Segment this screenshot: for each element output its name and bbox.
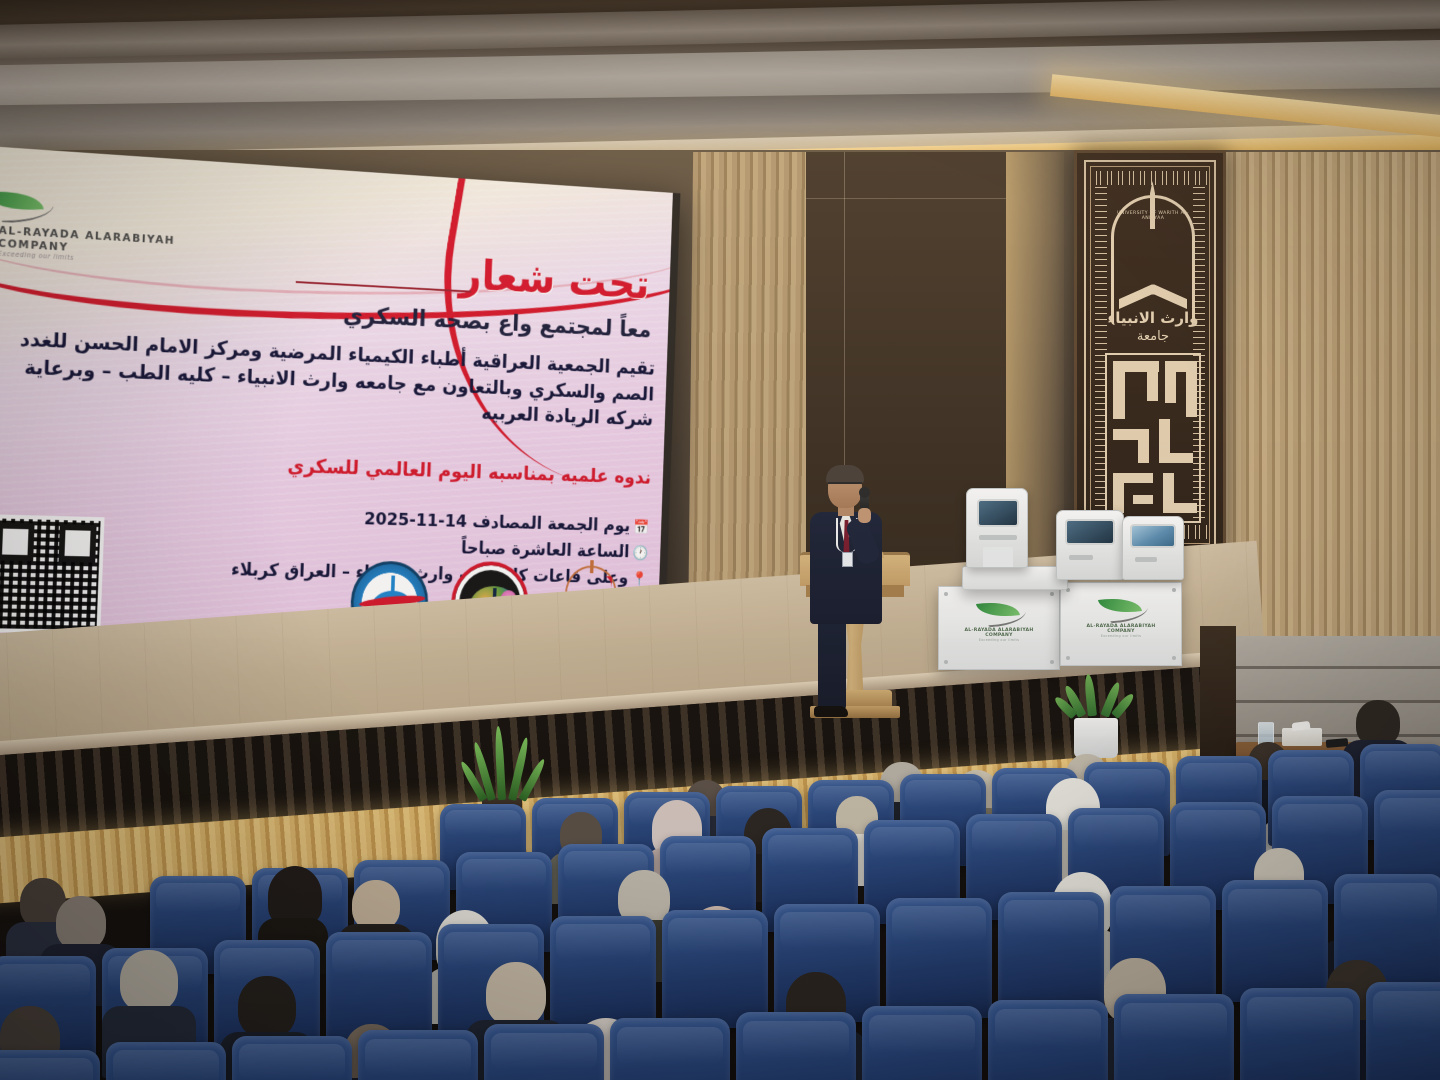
cabinet-brand-tagline: Exceeding our limits bbox=[945, 638, 1053, 642]
seat[interactable] bbox=[1240, 988, 1360, 1080]
analyzer-slot bbox=[979, 535, 1017, 540]
analyzer-blue-touchscreen[interactable] bbox=[1122, 516, 1184, 580]
cabinet-brand-tagline: Exceeding our limits bbox=[1067, 634, 1175, 638]
seat[interactable] bbox=[1222, 880, 1328, 1002]
presenter bbox=[806, 468, 886, 718]
clock-icon: 🕐 bbox=[632, 544, 648, 562]
equipment-cabinet-left: AL-RAYADA ALARABIYAH COMPANY Exceeding o… bbox=[938, 586, 1060, 670]
analyzer-display[interactable] bbox=[977, 499, 1019, 527]
seat[interactable] bbox=[358, 1030, 478, 1080]
seat[interactable] bbox=[862, 1006, 982, 1080]
analyzer-slot bbox=[1135, 557, 1157, 562]
seat[interactable] bbox=[1366, 982, 1440, 1080]
university-word-arabic: جامعة bbox=[1105, 329, 1201, 344]
analyzer-display[interactable] bbox=[1130, 524, 1176, 548]
seat[interactable] bbox=[736, 1012, 856, 1080]
qr-code-icon[interactable] bbox=[0, 514, 105, 633]
seat[interactable] bbox=[484, 1024, 604, 1080]
calendar-icon: 📅 bbox=[633, 518, 649, 536]
green-leaf-icon bbox=[1099, 596, 1143, 622]
seat[interactable] bbox=[662, 910, 768, 1028]
green-leaf-icon bbox=[0, 186, 47, 224]
seat[interactable] bbox=[0, 1050, 100, 1080]
university-emblem-panel: UNIVERSITY OF WARITH AL-ANBIYAA وارث الا… bbox=[1074, 150, 1226, 560]
seat[interactable] bbox=[232, 1036, 352, 1080]
seat[interactable] bbox=[1114, 994, 1234, 1080]
analyzer-base-shelf bbox=[962, 566, 1068, 590]
analyzer-with-sample-loader[interactable] bbox=[966, 488, 1028, 568]
cabinet-brand: AL-RAYADA ALARABIYAH COMPANY Exceeding o… bbox=[1067, 596, 1175, 638]
slide-headline: تحت شعار bbox=[458, 250, 650, 308]
slide-date-text: يوم الجمعة المصادف 14-11-2025 bbox=[364, 509, 631, 536]
seat[interactable] bbox=[998, 892, 1104, 1012]
eyeglasses-icon bbox=[828, 482, 862, 488]
conference-hall-photo: UNIVERSITY OF WARITH AL-ANBIYAA وارث الا… bbox=[0, 0, 1440, 1080]
panel-ornament-icon bbox=[1093, 171, 1207, 185]
analyzer-display[interactable] bbox=[1065, 519, 1115, 545]
sample-tray bbox=[983, 547, 1013, 567]
seat[interactable] bbox=[886, 898, 992, 1018]
badge-icon bbox=[842, 552, 853, 567]
university-arc-text: UNIVERSITY OF WARITH AL-ANBIYAA bbox=[1111, 211, 1195, 221]
seat[interactable] bbox=[610, 1018, 730, 1080]
equipment-cabinet-right: AL-RAYADA ALARABIYAH COMPANY Exceeding o… bbox=[1060, 582, 1182, 666]
green-leaf-icon bbox=[977, 600, 1021, 626]
presenter-legs bbox=[818, 618, 846, 710]
kufic-calligraphy-icon bbox=[1105, 353, 1201, 523]
analyzer-slot bbox=[1069, 555, 1093, 560]
university-name-arabic: وارث الانبياء bbox=[1105, 311, 1201, 326]
cabinet-brand: AL-RAYADA ALARABIYAH COMPANY Exceeding o… bbox=[945, 600, 1053, 642]
auditorium-seating bbox=[0, 700, 1440, 1080]
seat[interactable] bbox=[106, 1042, 226, 1080]
presenter-hand bbox=[858, 508, 871, 523]
seat[interactable] bbox=[988, 1000, 1108, 1080]
seat[interactable] bbox=[550, 916, 656, 1032]
analyzer-dark-touchscreen[interactable] bbox=[1056, 510, 1124, 580]
sponsor-logo: AL-RAYADA ALARABIYAH COMPANY Exceeding o… bbox=[0, 187, 183, 268]
